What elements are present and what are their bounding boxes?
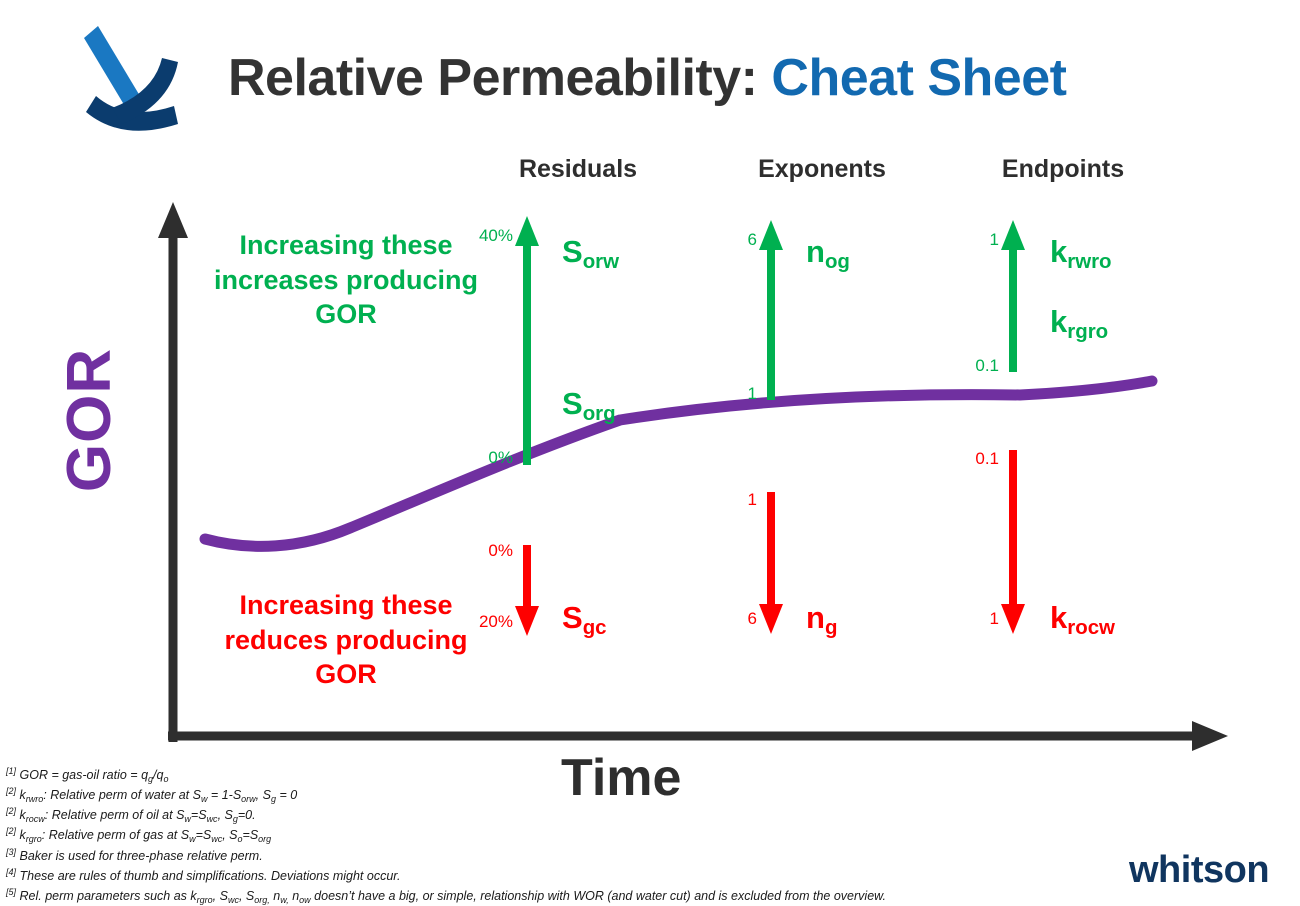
column-header-residuals: Residuals — [519, 155, 637, 184]
value-label-residuals-up-bottom: 0% — [488, 448, 513, 468]
arrow-residuals-down — [515, 545, 539, 636]
footnote-text: = 0 — [276, 788, 297, 802]
var-label-sorw: Sorw — [562, 234, 619, 270]
footnote-sub: w — [184, 814, 191, 824]
footnote-text: = 1-S — [207, 788, 241, 802]
var-label-krocw: krocw — [1050, 600, 1115, 636]
value-label-exponents-up-bottom: 1 — [748, 384, 757, 404]
var-sub: rwro — [1067, 250, 1111, 273]
var-sub: gc — [583, 616, 607, 639]
arrow-exponents-down — [759, 492, 783, 634]
arrow-exponents-up — [759, 220, 783, 400]
footnote-sub: o — [238, 834, 243, 844]
footnote-text: =S — [196, 829, 212, 843]
footnote-text: : Relative perm of gas at S — [42, 829, 189, 843]
footnote-text: =S — [191, 808, 207, 822]
footnote-4: [2] krgro: Relative perm of gas at Sw=Sw… — [6, 825, 1116, 845]
footnote-sub: w — [201, 794, 208, 804]
footnote-1: [1] GOR = gas-oil ratio = qg/qo — [6, 765, 1116, 785]
footnote-text: /q — [153, 768, 163, 782]
footnote-sub: g — [271, 794, 276, 804]
column-header-exponents: Exponents — [758, 155, 886, 184]
callout-reducing-gor: Increasing these reduces producing GOR — [196, 588, 496, 692]
footnote-marker: [2] — [6, 806, 16, 816]
footnote-text: doesn’t have a big, or simple, relations… — [311, 889, 886, 903]
footnote-marker: [5] — [6, 887, 16, 897]
footnote-text: Rel. perm parameters such as k — [20, 889, 197, 903]
var-label-krgro: krgro — [1050, 304, 1108, 340]
footnote-text: : Relative perm of oil at S — [45, 808, 185, 822]
callout-increasing-gor: Increasing these increases producing GOR — [196, 228, 496, 332]
var-sub: rgro — [1067, 320, 1108, 343]
footnote-7: [5] Rel. perm parameters such as krgro, … — [6, 886, 1116, 906]
footnote-text: =0. — [238, 808, 256, 822]
var-sub: g — [825, 616, 837, 639]
var-base: S — [562, 386, 583, 421]
var-base: k — [1050, 304, 1067, 339]
var-base: k — [1050, 234, 1067, 269]
column-header-endpoints: Endpoints — [1002, 155, 1124, 184]
footnote-text: : Relative perm of water at S — [43, 788, 201, 802]
footnote-text: k — [20, 808, 26, 822]
footnote-marker: [3] — [6, 847, 16, 857]
footnote-sub: wc — [207, 814, 218, 824]
footnote-3: [2] krocw: Relative perm of oil at Sw=Sw… — [6, 805, 1116, 825]
arrow-endpoints-down — [1001, 450, 1025, 634]
var-sub: og — [825, 250, 850, 273]
footnote-text: Baker is used for three-phase relative p… — [20, 849, 263, 863]
var-sub: org — [583, 402, 616, 425]
whitson-x-logo-icon — [78, 18, 198, 138]
footnote-sub: wc — [211, 834, 222, 844]
value-label-endpoints-down-bottom: 1 — [990, 609, 999, 629]
footnote-sub: orw — [241, 794, 256, 804]
footnote-text: , S — [218, 808, 233, 822]
value-label-exponents-down-bottom: 6 — [748, 609, 757, 629]
value-label-endpoints-down-top: 0.1 — [975, 449, 999, 469]
value-label-residuals-down-bottom: 20% — [479, 612, 513, 632]
value-label-residuals-down-top: 0% — [488, 541, 513, 561]
footnote-5: [3] Baker is used for three-phase relati… — [6, 846, 1116, 866]
footnote-text: These are rules of thumb and simplificat… — [20, 869, 401, 883]
var-base: S — [562, 234, 583, 269]
value-label-exponents-up-top: 6 — [748, 230, 757, 250]
footnote-sub: g — [148, 774, 153, 784]
page-title-accent: Cheat Sheet — [757, 49, 1066, 107]
footnote-marker: [4] — [6, 867, 16, 877]
footnote-marker: [2] — [6, 826, 16, 836]
footnote-sub: rgro — [26, 834, 42, 844]
var-label-nog: nog — [806, 234, 850, 270]
footnote-text: n — [289, 889, 299, 903]
footnote-marker: [2] — [6, 786, 16, 796]
slide-canvas: Relative Permeability: Cheat Sheet Resid… — [0, 0, 1300, 900]
footnote-text: , S — [256, 788, 271, 802]
var-label-sgc: Sgc — [562, 600, 607, 636]
var-base: n — [806, 600, 825, 635]
footnote-text: , S — [239, 889, 254, 903]
value-label-residuals-up-top: 40% — [479, 226, 513, 246]
var-sub: orw — [583, 250, 619, 273]
var-sub: rocw — [1067, 616, 1115, 639]
footnotes: [1] GOR = gas-oil ratio = qg/qo [2] krwr… — [6, 765, 1116, 906]
footnote-text: GOR = gas-oil ratio = q — [20, 768, 149, 782]
footnote-text: k — [20, 829, 26, 843]
footnote-sub: rwro — [26, 794, 44, 804]
var-label-ng: ng — [806, 600, 837, 636]
whitson-wordmark: whitson — [1129, 849, 1269, 892]
var-label-sorg: Sorg — [562, 386, 616, 422]
var-label-krwro: krwro — [1050, 234, 1112, 270]
value-label-endpoints-up-bottom: 0.1 — [975, 356, 999, 376]
footnote-text: n — [270, 889, 280, 903]
arrow-endpoints-up — [1001, 220, 1025, 372]
footnote-marker: [1] — [6, 766, 16, 776]
footnote-6: [4] These are rules of thumb and simplif… — [6, 866, 1116, 886]
footnote-text: , S — [222, 829, 237, 843]
page-title: Relative Permeability: Cheat Sheet — [228, 48, 1066, 108]
var-base: n — [806, 234, 825, 269]
footnote-text: , S — [213, 889, 228, 903]
footnote-sub: rocw — [26, 814, 45, 824]
value-label-exponents-down-top: 1 — [748, 490, 757, 510]
footnote-sub: org — [258, 834, 271, 844]
footnote-text: =S — [243, 829, 259, 843]
footnote-sub: g — [233, 814, 238, 824]
footnote-sub: w — [189, 834, 196, 844]
arrow-residuals-up — [515, 216, 539, 465]
y-axis-title: GOR — [54, 300, 125, 540]
var-base: k — [1050, 600, 1067, 635]
footnote-2: [2] krwro: Relative perm of water at Sw … — [6, 785, 1116, 805]
footnote-text: k — [20, 788, 26, 802]
page-title-main: Relative Permeability: — [228, 49, 757, 107]
var-base: S — [562, 600, 583, 635]
footnote-sub: o — [163, 774, 168, 784]
value-label-endpoints-up-top: 1 — [990, 230, 999, 250]
